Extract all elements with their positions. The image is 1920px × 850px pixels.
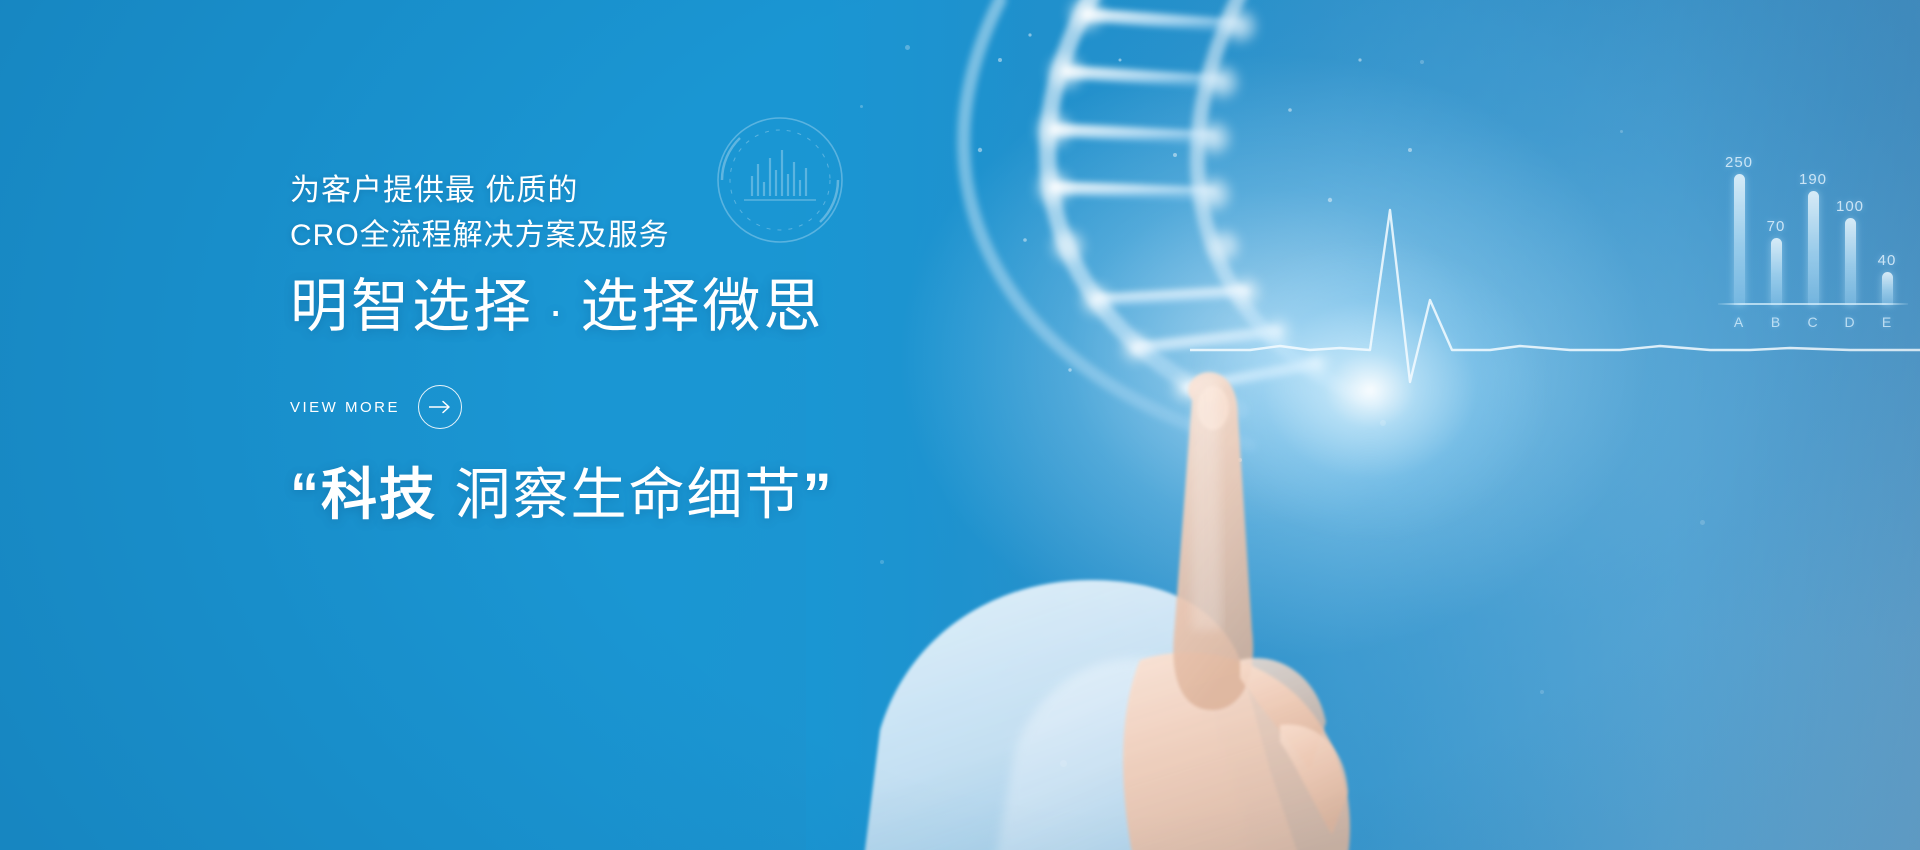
subtitle-line-2: CRO全流程解决方案及服务 (290, 213, 670, 258)
headline-part-1: 明智选择 (290, 274, 534, 339)
chart-value-label: 70 (1767, 219, 1786, 234)
bokeh-particle (1620, 130, 1623, 133)
banner-headline: 明智选择·选择微思 (290, 275, 824, 339)
chart-bar-a: 250 (1726, 155, 1752, 305)
chart-value-label: 190 (1799, 172, 1827, 187)
chart-bar-c: 190 (1800, 155, 1826, 305)
arrow-right-icon[interactable] (418, 385, 462, 429)
quote-normal-text: 洞察生命细节 (437, 463, 803, 526)
headline-part-2: 选择微思 (580, 274, 824, 339)
banner-quote: “科技 洞察生命细节” (290, 462, 834, 529)
chart-plot-area: 250 70 190 100 40 (1718, 155, 1908, 305)
chart-bar-rect (1734, 174, 1745, 305)
headline-separator: · (534, 284, 580, 336)
banner-subtitle: 为客户提供最 优质的 CRO全流程解决方案及服务 (290, 168, 670, 258)
quote-open-mark: “ (290, 462, 321, 527)
chart-bar-e: 40 (1874, 155, 1900, 305)
chart-bar-rect (1882, 272, 1893, 305)
chart-bar-d: 100 (1837, 155, 1863, 305)
chart-tick-d: D (1837, 314, 1863, 330)
chart-bar-rect (1845, 218, 1856, 305)
chart-tick-a: A (1726, 314, 1752, 330)
chart-bar-b: 70 (1763, 155, 1789, 305)
bar-chart-hud: 250 70 190 100 40 (1718, 155, 1908, 340)
banner-content: 为客户提供最 优质的 CRO全流程解决方案及服务 明智选择·选择微思 VIEW … (290, 0, 1090, 850)
view-more-label: VIEW MORE (290, 399, 400, 416)
chart-tick-b: B (1763, 314, 1789, 330)
chart-bar-rect (1808, 191, 1819, 305)
view-more-button[interactable]: VIEW MORE (290, 385, 462, 429)
quote-close-mark: ” (803, 462, 834, 527)
chart-x-axis (1718, 303, 1908, 305)
bokeh-particle (1380, 420, 1386, 426)
bokeh-particle (1420, 60, 1424, 64)
chart-value-label: 40 (1878, 253, 1897, 268)
subtitle-line-1: 为客户提供最 优质的 (290, 168, 670, 213)
chart-bar-rect (1771, 238, 1782, 306)
chart-value-label: 250 (1725, 155, 1753, 170)
bokeh-particle (1540, 690, 1544, 694)
quote-strong-text: 科技 (321, 463, 437, 526)
chart-value-label: 100 (1836, 199, 1864, 214)
hero-banner: 250 70 190 100 40 (0, 0, 1920, 850)
chart-category-labels: A B C D E (1718, 314, 1908, 330)
chart-bars: 250 70 190 100 40 (1726, 155, 1900, 305)
chart-tick-e: E (1874, 314, 1900, 330)
bokeh-particle (1700, 520, 1705, 525)
chart-tick-c: C (1800, 314, 1826, 330)
